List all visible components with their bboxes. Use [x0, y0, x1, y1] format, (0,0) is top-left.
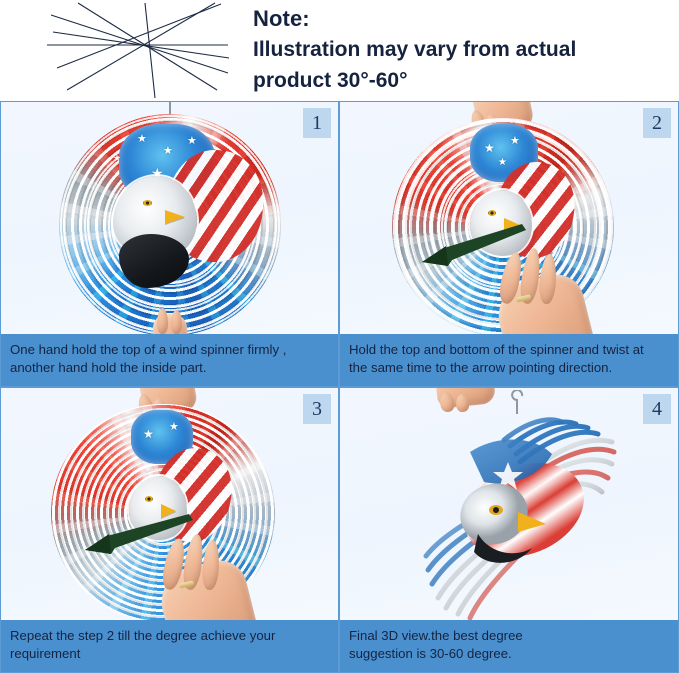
step-caption-3: Repeat the step 2 till the degree achiev… — [1, 620, 338, 672]
star-icon: ★ — [169, 422, 179, 433]
caption-line-1: Hold the top and bottom of the spinner a… — [349, 341, 670, 359]
star-icon: ★ — [113, 154, 121, 163]
step-panel-3: ★ ★ 3 — [0, 387, 339, 673]
angle-range-diagram-icon — [45, 2, 230, 99]
note-block: Note: Illustration may vary from actual … — [253, 4, 673, 96]
note-label: Note: — [253, 4, 673, 34]
eagle-beak — [165, 210, 185, 224]
caption-line-2: the same time to the arrow pointing dire… — [349, 359, 670, 377]
star-icon: ★ — [510, 136, 520, 147]
star-icon: ★ — [187, 136, 197, 147]
step-caption-2: Hold the top and bottom of the spinner a… — [340, 334, 678, 386]
steps-grid: ★ ★ ★ ★ ★ ★ 1 — [0, 101, 679, 673]
step-badge-4: 4 — [643, 394, 671, 424]
step-badge-3: 3 — [303, 394, 331, 424]
caption-line-1: One hand hold the top of a wind spinner … — [10, 341, 330, 359]
step-1-illustration: ★ ★ ★ ★ ★ ★ — [1, 102, 338, 334]
caption-line-2: requirement — [10, 645, 330, 663]
star-icon: ★ — [137, 134, 147, 145]
step-panel-2: ★ ★ ★ — [339, 101, 679, 387]
star-icon: ★ — [163, 146, 173, 157]
eagle-eye — [488, 210, 496, 216]
step-4-illustration — [340, 388, 678, 620]
twist-direction-arrow — [422, 224, 528, 266]
caption-line-1: Final 3D view.the best degree — [349, 627, 670, 645]
note-line-1: Illustration may vary from actual — [253, 34, 673, 65]
step-badge-2: 2 — [643, 108, 671, 138]
header: Note: Illustration may vary from actual … — [0, 0, 679, 101]
note-line-2: product 30°-60° — [253, 65, 673, 96]
step-2-illustration: ★ ★ ★ — [340, 102, 678, 334]
step-caption-1: One hand hold the top of a wind spinner … — [1, 334, 338, 386]
eagle-eye — [145, 496, 153, 502]
step-panel-1: ★ ★ ★ ★ ★ ★ 1 — [0, 101, 339, 387]
step-badge-1: 1 — [303, 108, 331, 138]
step-3-illustration: ★ ★ — [1, 388, 338, 620]
eagle-eye — [143, 200, 152, 206]
twist-direction-arrow — [85, 514, 195, 554]
star-icon: ★ — [484, 142, 495, 154]
instruction-sheet: Note: Illustration may vary from actual … — [0, 0, 679, 673]
star-icon: ★ — [498, 158, 507, 168]
finger — [171, 310, 182, 334]
step-caption-4: Final 3D view.the best degree suggestion… — [340, 620, 678, 672]
caption-line-2: another hand hold the inside part. — [10, 359, 330, 377]
caption-line-1: Repeat the step 2 till the degree achiev… — [10, 627, 330, 645]
finger — [157, 308, 168, 334]
star-icon: ★ — [143, 428, 154, 440]
wind-spinner-front: ★ ★ ★ ★ ★ ★ — [59, 114, 281, 334]
caption-line-2: suggestion is 30-60 degree. — [349, 645, 670, 663]
step-panel-4: 4 Final 3D view.the best degree suggesti… — [339, 387, 679, 673]
spinner-3d-view — [412, 402, 628, 620]
